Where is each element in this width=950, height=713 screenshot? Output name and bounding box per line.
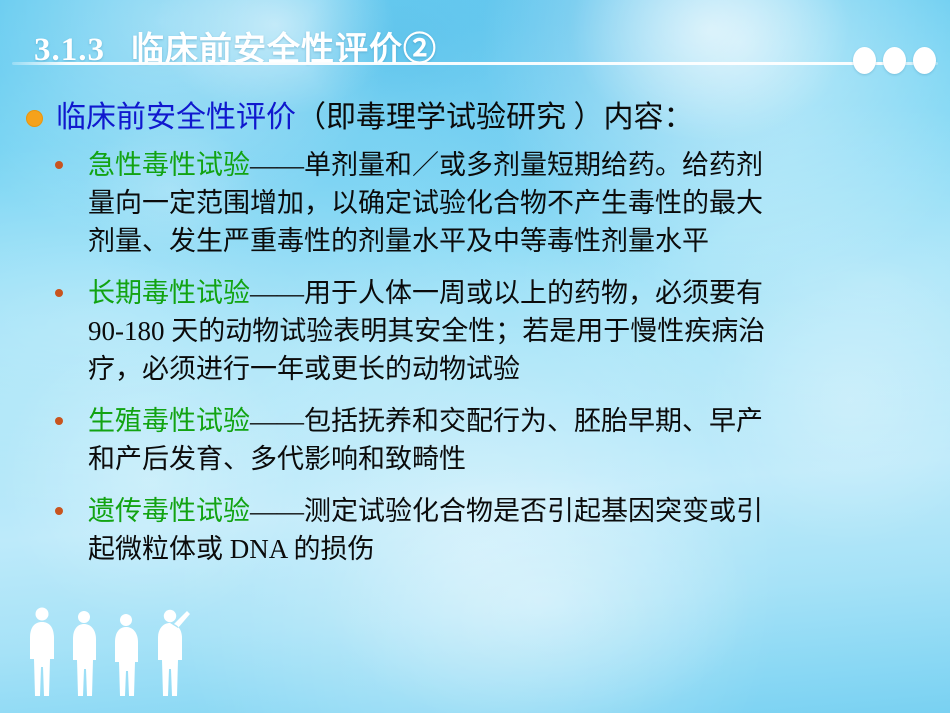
lead-rest: （即毒理学试验研究 ）内容：	[296, 101, 694, 134]
header-dot-icon	[883, 47, 906, 74]
sub-bullet-dot-icon	[55, 289, 63, 297]
term-label: 生殖毒性试验	[88, 406, 250, 436]
header-dots	[853, 47, 936, 74]
list-item-line-3: 剂量、发生严重毒性的剂量水平及中等毒性剂量水平	[88, 222, 950, 260]
term-label: 遗传毒性试验	[88, 496, 250, 526]
list-item-line-1: 急性毒性试验——单剂量和／或多剂量短期给药。给药剂	[88, 146, 950, 184]
line-text: ——用于人体一周或以上的药物，必须要有	[250, 278, 763, 308]
list-item-line-2: 90-180 天的动物试验表明其安全性；若是用于慢性疾病治	[88, 312, 950, 350]
sub-bullet-dot-icon	[55, 417, 63, 425]
list-item-line-2: 起微粒体或 DNA 的损伤	[88, 530, 950, 568]
header-dot-icon	[853, 47, 876, 74]
lead-line: 临床前安全性评价（即毒理学试验研究 ）内容：	[0, 96, 950, 140]
person-silhouette-4	[158, 610, 190, 696]
sub-bullet-dot-icon	[55, 507, 63, 515]
person-silhouette-2	[73, 611, 96, 696]
line-text: ——测定试验化合物是否引起基因突变或引	[250, 496, 763, 526]
list-item-line-1: 生殖毒性试验——包括抚养和交配行为、胚胎早期、早产	[88, 402, 950, 440]
list-item: 长期毒性试验——用于人体一周或以上的药物，必须要有 90-180 天的动物试验表…	[0, 274, 950, 388]
person-silhouette-3	[115, 614, 138, 696]
lead-highlight: 临床前安全性评价	[56, 101, 296, 134]
sub-bullet-dot-icon	[55, 161, 63, 169]
list-item: 急性毒性试验——单剂量和／或多剂量短期给药。给药剂 量向一定范围增加，以确定试验…	[0, 146, 950, 260]
list-item-line-2: 量向一定范围增加，以确定试验化合物不产生毒性的最大	[88, 184, 950, 222]
person-silhouette-1	[30, 608, 54, 697]
header-divider	[12, 62, 938, 65]
term-label: 急性毒性试验	[88, 150, 250, 180]
list-item-line-2: 和产后发育、多代影响和致畸性	[88, 440, 950, 478]
slide-header: 3.1.3临床前安全性评价②	[0, 0, 950, 82]
list-item-line-1: 长期毒性试验——用于人体一周或以上的药物，必须要有	[88, 274, 950, 312]
list-item-line-1: 遗传毒性试验——测定试验化合物是否引起基因突变或引	[88, 492, 950, 530]
term-label: 长期毒性试验	[88, 278, 250, 308]
list-item-line-3: 疗，必须进行一年或更长的动物试验	[88, 350, 950, 388]
list-item: 遗传毒性试验——测定试验化合物是否引起基因突变或引 起微粒体或 DNA 的损伤	[0, 492, 950, 568]
line-text: ——包括抚养和交配行为、胚胎早期、早产	[250, 406, 763, 436]
people-silhouettes-decoration	[22, 605, 232, 697]
slide-body: 临床前安全性评价（即毒理学试验研究 ）内容： 急性毒性试验——单剂量和／或多剂量…	[0, 96, 950, 570]
slide: 3.1.3临床前安全性评价② 临床前安全性评价（即毒理学试验研究 ）内容： 急性…	[0, 0, 950, 713]
list-item: 生殖毒性试验——包括抚养和交配行为、胚胎早期、早产 和产后发育、多代影响和致畸性	[0, 402, 950, 478]
line-text: ——单剂量和／或多剂量短期给药。给药剂	[250, 150, 763, 180]
header-dot-icon	[913, 47, 936, 74]
bullet-dot-icon	[26, 110, 43, 127]
